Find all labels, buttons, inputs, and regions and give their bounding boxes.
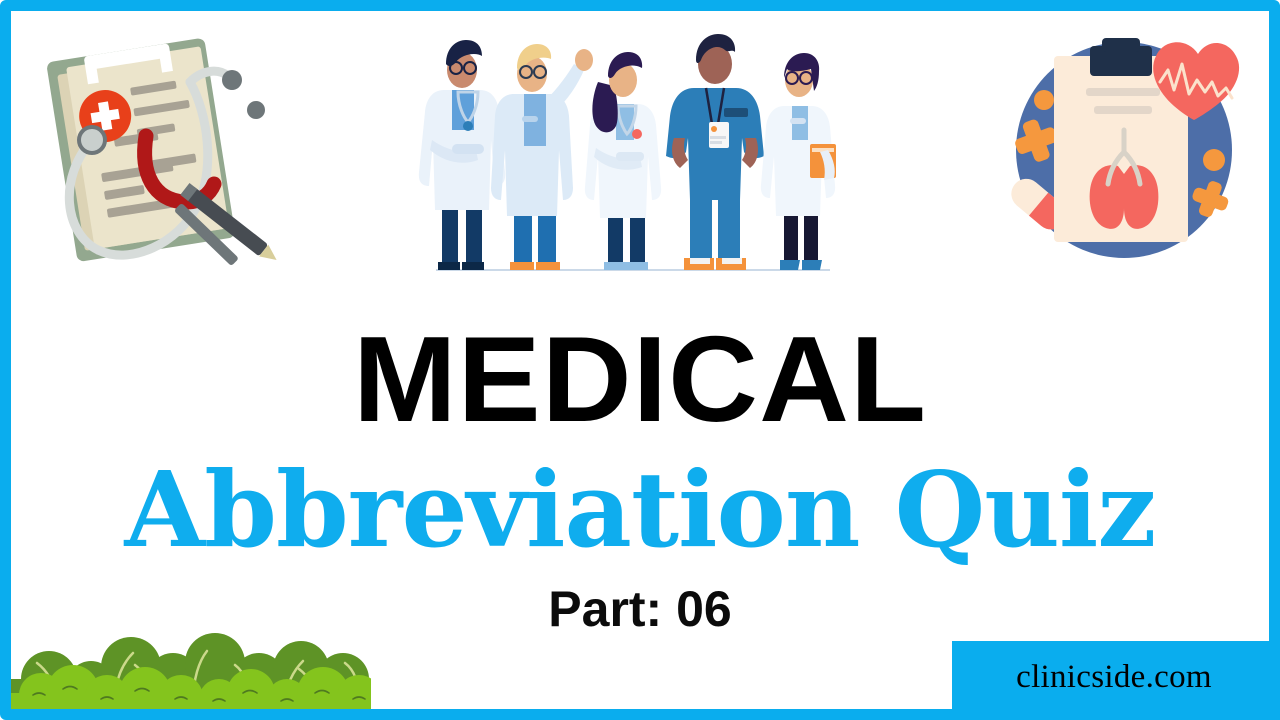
clipboard-stethoscope-illustration [28,18,290,280]
person-doctor-waving [491,44,593,270]
orange-dot-left [1034,90,1054,110]
lungs-clipboard-illustration [1002,18,1260,280]
page-title-medical: MEDICAL [0,318,1280,440]
person-male-nurse [666,34,764,270]
headline-block: MEDICAL Abbreviation Quiz Part: 06 [0,318,1280,634]
stethoscope-earpiece-2 [247,101,265,119]
person-doctor-glasses [419,40,505,270]
chest-pocket [724,108,748,117]
person-female-doctor [585,52,661,270]
person-doctor-folder [761,53,836,270]
website-banner[interactable]: clinicside.com [952,641,1280,720]
bushes-illustration [11,623,371,709]
part-label: Part: 06 [0,584,1280,634]
website-url-text: clinicside.com [1016,659,1216,702]
orange-dot-right [1203,149,1225,171]
medical-team-illustration [418,22,846,284]
stethoscope-earpiece-1 [222,70,242,90]
page-subtitle-abbreviation-quiz: Abbreviation Quiz [0,458,1280,562]
stethoscope-chestpiece [79,127,105,153]
poster-canvas: MEDICAL Abbreviation Quiz Part: 06 [0,0,1280,720]
id-badge [709,122,729,148]
